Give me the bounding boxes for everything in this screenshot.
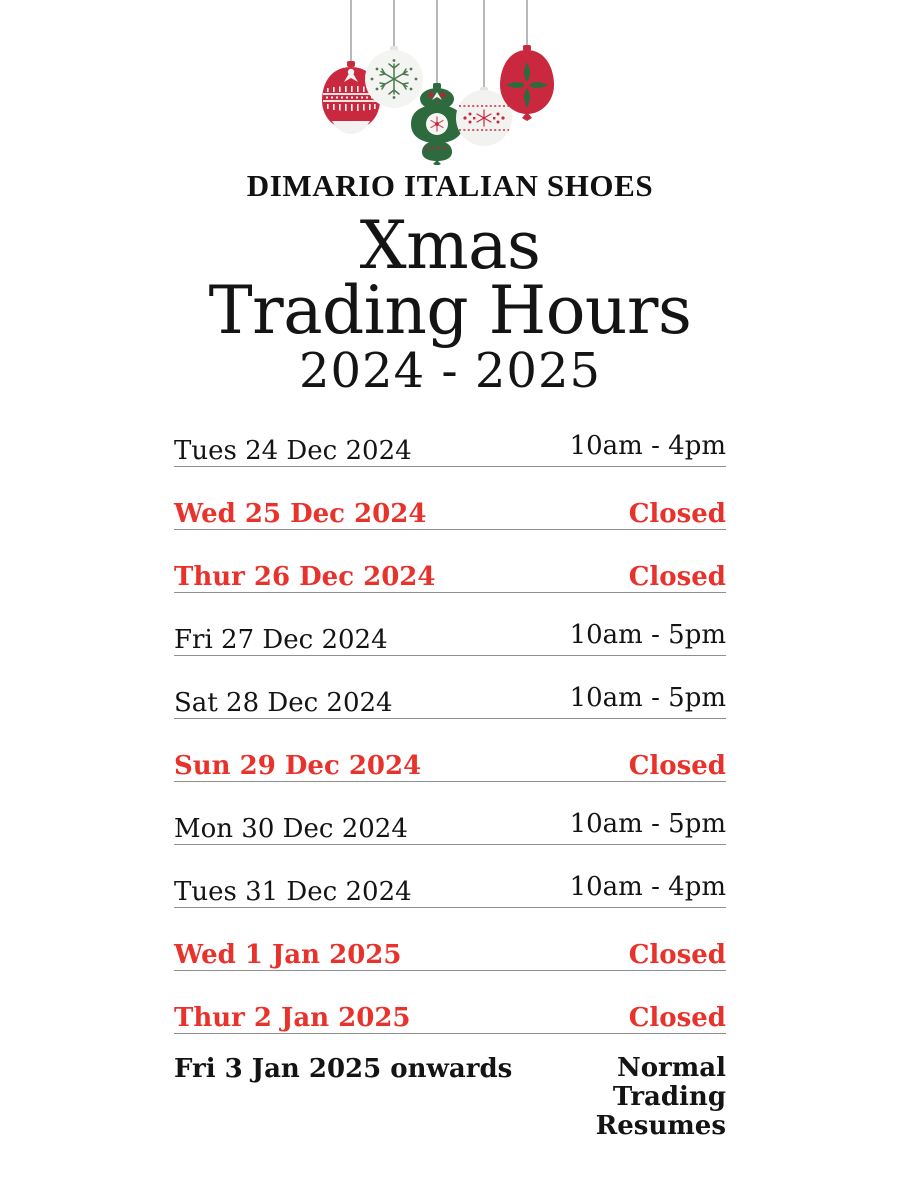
row-date: Fri 3 Jan 2025 onwards — [174, 1054, 512, 1082]
row-hours: Closed — [629, 942, 726, 968]
row-date: Mon 30 Dec 2024 — [174, 816, 408, 842]
row-date: Sun 29 Dec 2024 — [174, 753, 421, 779]
row-hours: 10am - 4pm — [570, 874, 726, 900]
row-hours: Closed — [629, 1005, 726, 1031]
table-row: Sun 29 Dec 2024 Closed — [174, 739, 726, 782]
row-hours: Closed — [629, 501, 726, 527]
row-date: Thur 26 Dec 2024 — [174, 564, 435, 590]
row-hours: Normal Trading Resumes — [512, 1054, 726, 1141]
row-date: Wed 1 Jan 2025 — [174, 942, 401, 968]
brand-name: DIMARIO ITALIAN SHOES — [0, 168, 900, 204]
row-date: Sat 28 Dec 2024 — [174, 690, 393, 716]
row-hours: 10am - 5pm — [570, 811, 726, 837]
row-hours: 10am - 5pm — [570, 685, 726, 711]
ornament-decoration-header — [0, 0, 900, 160]
title-line-1: Xmas — [0, 214, 900, 279]
row-hours: 10am - 4pm — [570, 433, 726, 459]
row-date: Tues 31 Dec 2024 — [174, 879, 412, 905]
table-row: Wed 25 Dec 2024 Closed — [174, 487, 726, 530]
table-row: Mon 30 Dec 2024 10am - 5pm — [174, 802, 726, 845]
row-date: Fri 27 Dec 2024 — [174, 627, 388, 653]
ornament-white-ball-snowflake-icon — [365, 46, 423, 108]
table-row: Sat 28 Dec 2024 10am - 5pm — [174, 676, 726, 719]
row-date: Wed 25 Dec 2024 — [174, 501, 426, 527]
row-date: Thur 2 Jan 2025 — [174, 1005, 411, 1031]
table-row: Wed 1 Jan 2025 Closed — [174, 928, 726, 971]
row-hours: Closed — [629, 564, 726, 590]
table-row: Fri 3 Jan 2025 onwards Normal Trading Re… — [174, 1054, 726, 1143]
table-row: Thur 2 Jan 2025 Closed — [174, 991, 726, 1034]
title-line-2: Trading Hours — [0, 279, 900, 344]
table-row: Thur 26 Dec 2024 Closed — [174, 550, 726, 593]
row-date: Tues 24 Dec 2024 — [174, 438, 412, 464]
row-hours: Closed — [629, 753, 726, 779]
hours-table: Tues 24 Dec 2024 10am - 4pm Wed 25 Dec 2… — [174, 424, 726, 1143]
table-row: Tues 31 Dec 2024 10am - 4pm — [174, 865, 726, 908]
row-hours: 10am - 5pm — [570, 622, 726, 648]
table-row: Tues 24 Dec 2024 10am - 4pm — [174, 424, 726, 467]
ornament-green-finial-snowflake-icon — [411, 83, 463, 165]
title-years: 2024 - 2025 — [0, 345, 900, 398]
table-row: Fri 27 Dec 2024 10am - 5pm — [174, 613, 726, 656]
page-title: Xmas Trading Hours 2024 - 2025 — [0, 214, 900, 398]
